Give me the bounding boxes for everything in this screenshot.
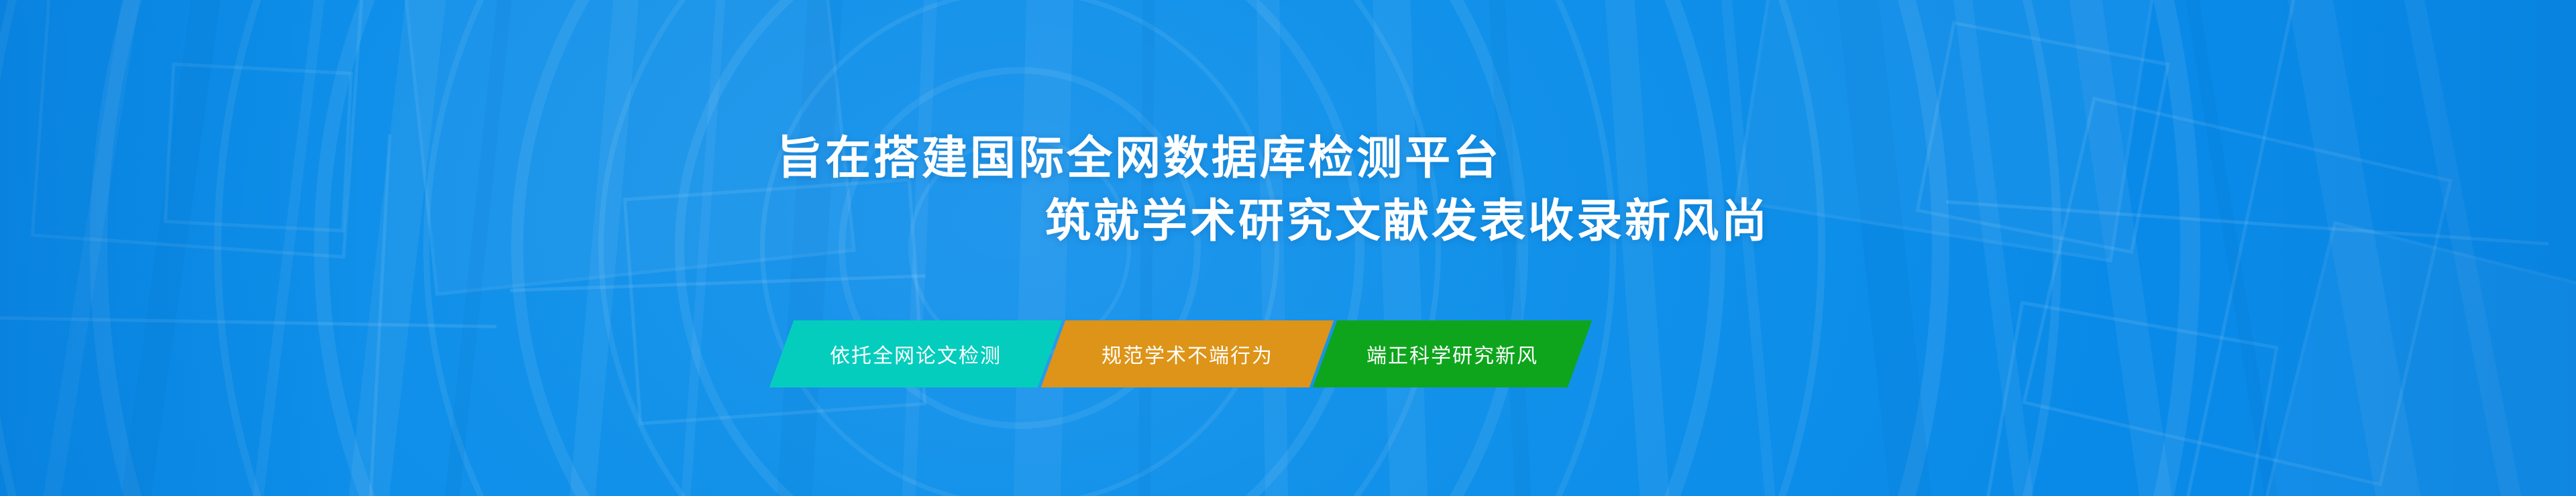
background-gradient <box>0 0 2576 496</box>
feature-tag-1-label: 依托全网论文检测 <box>830 339 1002 369</box>
promo-banner: 旨在搭建国际全网数据库检测平台 筑就学术研究文献发表收录新风尚 依托全网论文检测… <box>0 0 2576 496</box>
feature-tag-2[interactable]: 规范学术不端行为 <box>1041 320 1334 387</box>
background-slats <box>0 0 2576 496</box>
feature-tag-1[interactable]: 依托全网论文检测 <box>769 320 1062 387</box>
headline-line-2: 筑就学术研究文献发表收录新风尚 <box>0 194 2576 248</box>
background-vignette <box>0 0 2576 496</box>
headline-block: 旨在搭建国际全网数据库检测平台 筑就学术研究文献发表收录新风尚 <box>0 131 2576 248</box>
background-rings <box>0 0 2576 496</box>
feature-tag-3[interactable]: 端正科学研究新风 <box>1313 320 1592 387</box>
feature-tag-2-label: 规范学术不端行为 <box>1102 339 1273 369</box>
feature-tag-strip: 依托全网论文检测 规范学术不端行为 端正科学研究新风 <box>782 320 1580 387</box>
feature-tag-3-label: 端正科学研究新风 <box>1366 339 1538 369</box>
headline-line-1: 旨在搭建国际全网数据库检测平台 <box>0 131 2576 185</box>
background-frames <box>0 0 2576 496</box>
